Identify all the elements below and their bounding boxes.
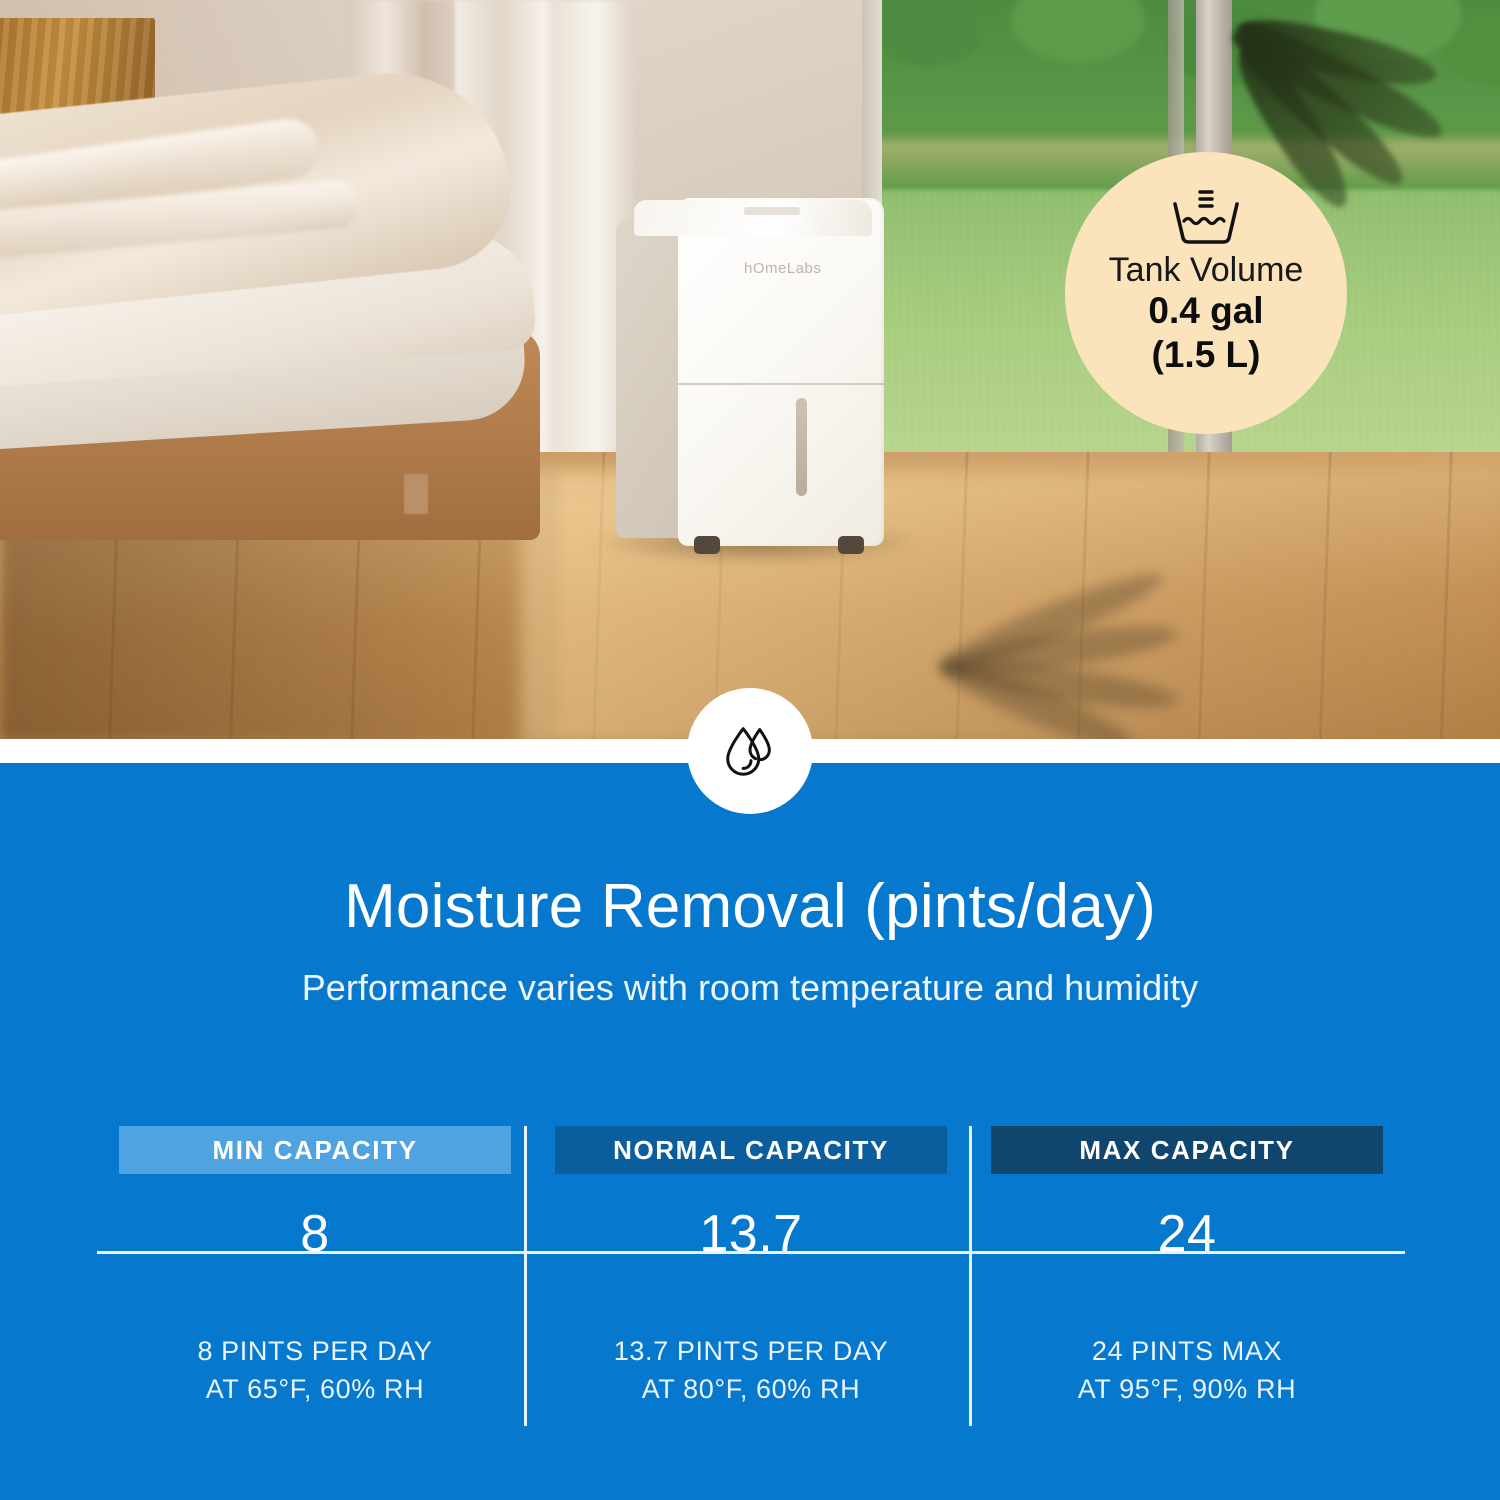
capacity-table: MIN CAPACITY 8 8 PINTS PER DAY AT 65°F, …: [97, 1126, 1405, 1426]
dehumidifier-caster: [838, 536, 864, 554]
dehumidifier-front-panel: [678, 198, 884, 546]
bed-leg: [404, 474, 428, 514]
water-droplets-medallion: [687, 688, 813, 814]
water-droplets-icon: [719, 720, 781, 782]
capacity-caption-line1: 24 PINTS MAX: [1078, 1332, 1296, 1370]
capacity-caption-line2: AT 95°F, 90% RH: [1078, 1370, 1296, 1408]
dehumidifier: hOmeLabs: [616, 198, 884, 550]
column-divider: [969, 1126, 972, 1426]
room-photo: hOmeLabs Tank Volume 0.4 gal (1.5 L): [0, 0, 1500, 739]
dehumidifier-tank-handle: [796, 398, 807, 496]
capacity-value-max: 24: [1158, 1204, 1217, 1264]
capacity-caption-line2: AT 65°F, 60% RH: [197, 1370, 432, 1408]
dehumidifier-caster: [694, 536, 720, 554]
capacity-caption-line1: 13.7 PINTS PER DAY: [614, 1332, 888, 1370]
water-tank-icon: [1169, 188, 1243, 246]
capacity-column-normal: NORMAL CAPACITY 13.7 13.7 PINTS PER DAY …: [533, 1126, 969, 1426]
capacity-header-max: MAX CAPACITY: [991, 1126, 1383, 1174]
plant-shadow: [940, 580, 1280, 739]
brand-logo: hOmeLabs: [744, 260, 821, 277]
dehumidifier-vent: [744, 207, 800, 215]
capacity-value-min: 8: [300, 1204, 329, 1264]
capacity-caption-min: 8 PINTS PER DAY AT 65°F, 60% RH: [197, 1332, 432, 1409]
capacity-value-normal: 13.7: [699, 1204, 802, 1264]
dehumidifier-tank-seam: [678, 383, 884, 385]
capacity-column-max: MAX CAPACITY 24 24 PINTS MAX AT 95°F, 90…: [969, 1126, 1405, 1426]
product-infographic: hOmeLabs Tank Volume 0.4 gal (1.5 L) Moi…: [0, 0, 1500, 1500]
tank-volume-label: Tank Volume: [1109, 252, 1304, 289]
tank-volume-badge: Tank Volume 0.4 gal (1.5 L): [1065, 152, 1347, 434]
moisture-removal-panel: Moisture Removal (pints/day) Performance…: [0, 763, 1500, 1500]
tank-volume-value: 0.4 gal: [1148, 289, 1263, 333]
capacity-header-min: MIN CAPACITY: [119, 1126, 511, 1174]
capacity-header-normal: NORMAL CAPACITY: [555, 1126, 947, 1174]
tank-volume-metric: (1.5 L): [1152, 333, 1261, 377]
capacity-caption-line2: AT 80°F, 60% RH: [614, 1370, 888, 1408]
capacity-caption-normal: 13.7 PINTS PER DAY AT 80°F, 60% RH: [614, 1332, 888, 1409]
dehumidifier-top: [634, 200, 872, 236]
column-divider: [524, 1126, 527, 1426]
capacity-caption-max: 24 PINTS MAX AT 95°F, 90% RH: [1078, 1332, 1296, 1409]
page-title: Moisture Removal (pints/day): [0, 871, 1500, 942]
row-divider: [97, 1251, 1405, 1254]
page-subtitle: Performance varies with room temperature…: [0, 967, 1500, 1009]
capacity-caption-line1: 8 PINTS PER DAY: [197, 1332, 432, 1370]
capacity-column-min: MIN CAPACITY 8 8 PINTS PER DAY AT 65°F, …: [97, 1126, 533, 1426]
